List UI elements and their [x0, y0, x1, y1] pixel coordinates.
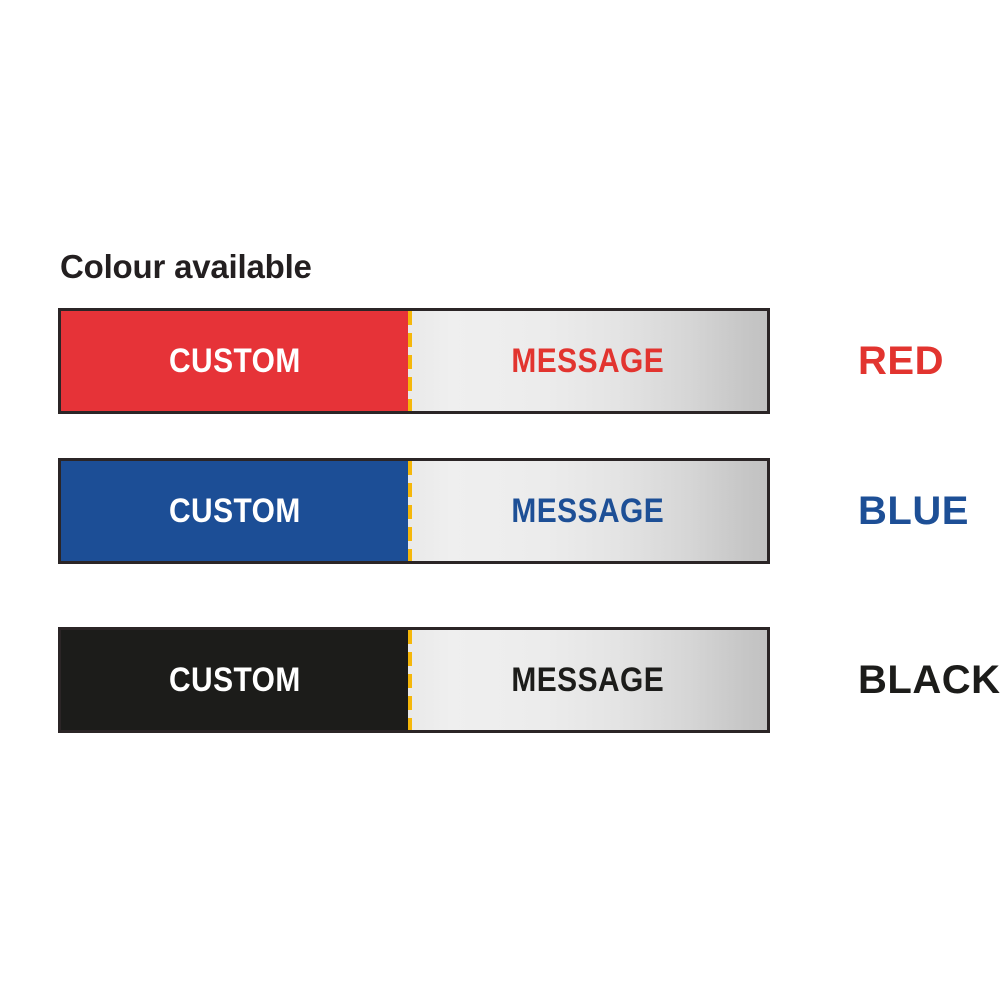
label-plate-blue[interactable]: CUSTOM MESSAGE [58, 458, 770, 564]
colour-name-label-blue: BLUE [858, 458, 969, 564]
swatch-row: CUSTOM MESSAGE BLUE [58, 458, 770, 564]
colour-name-label-red: RED [858, 308, 944, 414]
plate-right-gradient-block: MESSAGE [408, 311, 767, 411]
swatch-row: CUSTOM MESSAGE RED [58, 308, 770, 414]
colour-options-graphic: Colour available CUSTOM MESSAGE RED CUST… [0, 0, 1000, 1000]
message-text: MESSAGE [511, 494, 664, 528]
swatch-row: CUSTOM MESSAGE BLACK [58, 627, 770, 733]
plate-right-gradient-block: MESSAGE [408, 461, 767, 561]
label-plate-black[interactable]: CUSTOM MESSAGE [58, 627, 770, 733]
custom-text: CUSTOM [169, 344, 301, 378]
message-text: MESSAGE [511, 344, 664, 378]
plate-right-gradient-block: MESSAGE [408, 630, 767, 730]
plate-left-colour-block: CUSTOM [61, 461, 408, 561]
custom-text: CUSTOM [169, 663, 301, 697]
message-text: MESSAGE [511, 663, 664, 697]
plate-left-colour-block: CUSTOM [61, 630, 408, 730]
custom-text: CUSTOM [169, 494, 301, 528]
plate-left-colour-block: CUSTOM [61, 311, 408, 411]
page-title: Colour available [60, 250, 312, 283]
colour-name-label-black: BLACK [858, 627, 1000, 733]
label-plate-red[interactable]: CUSTOM MESSAGE [58, 308, 770, 414]
